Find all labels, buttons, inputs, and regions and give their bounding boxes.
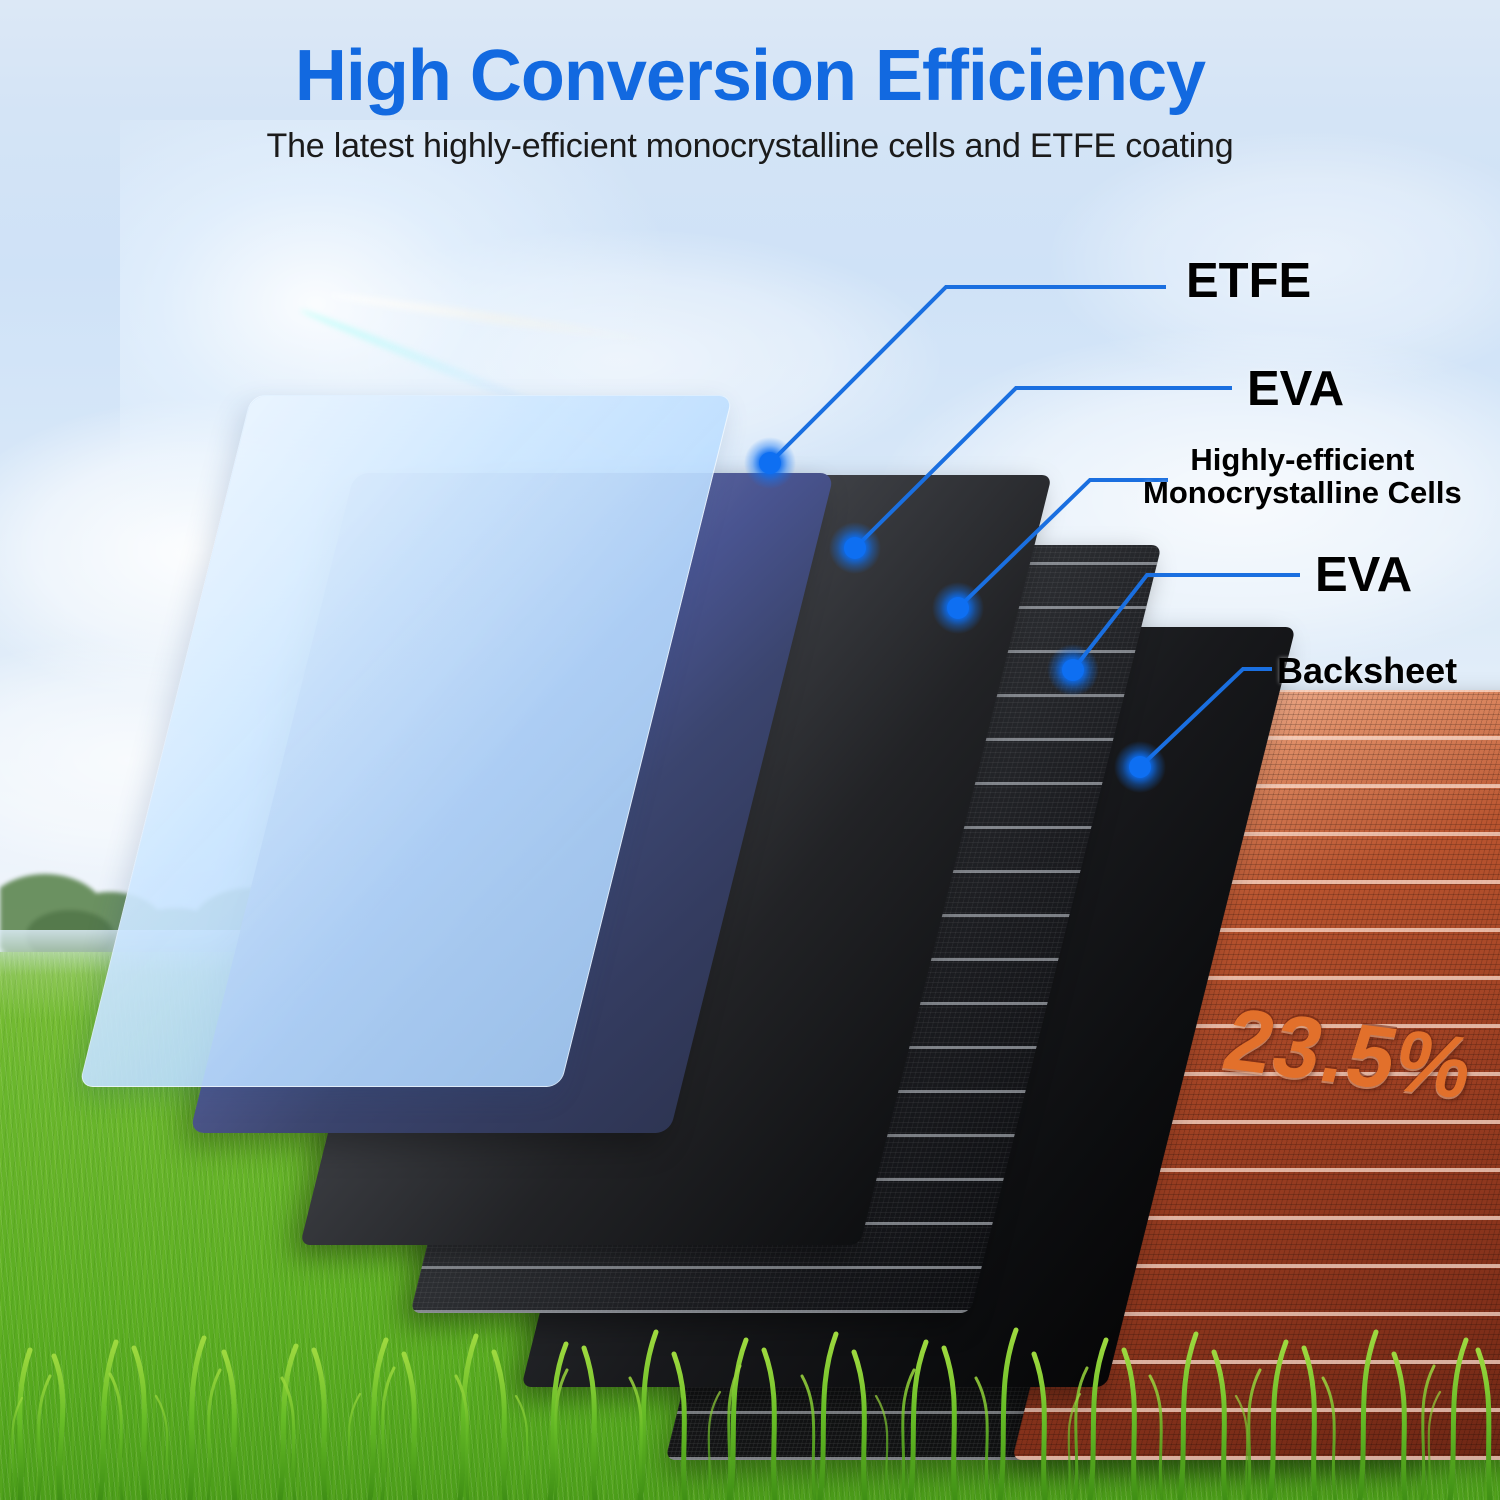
callout-label-etfe: ETFE xyxy=(1186,256,1311,308)
infographic-canvas: 23.5% xyxy=(0,0,1500,1500)
callout-label-eva-upper: EVA xyxy=(1247,364,1344,416)
callout-label-backsheet: Backsheet xyxy=(1277,652,1457,690)
callout-label-eva-lower: EVA xyxy=(1315,550,1412,602)
callout-label-monocrystalline-cells: Highly-efficient Monocrystalline Cells xyxy=(1143,444,1462,510)
